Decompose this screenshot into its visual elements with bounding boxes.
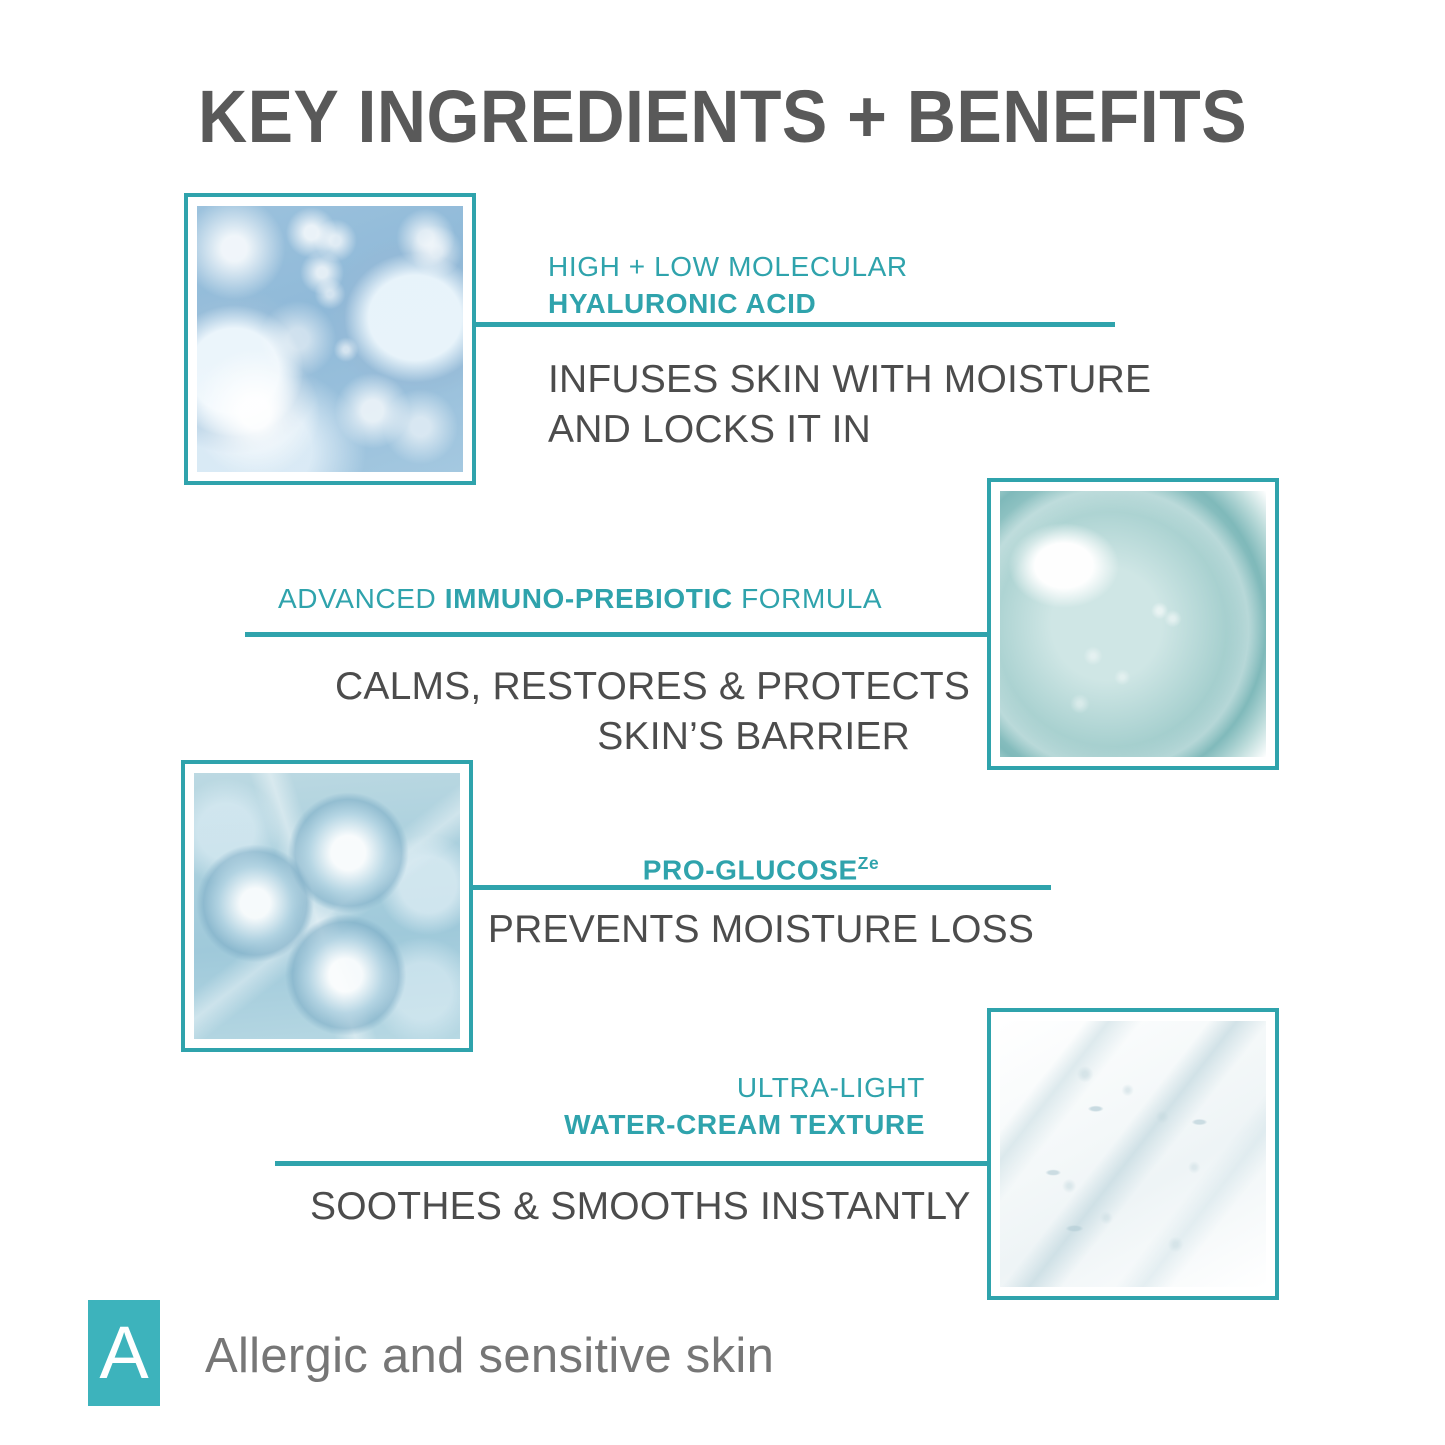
ingredient-label-emphasis: IMMUNO-PREBIOTIC	[445, 583, 733, 614]
benefit-line2: AND LOCKS IT IN	[548, 408, 871, 451]
water-cream-texture-photo	[1000, 1021, 1266, 1287]
footer-caption: Allergic and sensitive skin	[205, 1328, 774, 1384]
infographic-page: KEY INGREDIENTS + BENEFITS HIGH + LOW MO…	[0, 0, 1445, 1445]
ingredient-label-water-cream-texture: ULTRA-LIGHT WATER-CREAM TEXTURE	[380, 1069, 925, 1143]
ingredient-label-immuno-prebiotic: ADVANCED IMMUNO-PREBIOTIC FORMULA	[278, 580, 882, 617]
benefit-text-pro-glucose: PREVENTS MOISTURE LOSS	[471, 905, 1051, 955]
ingredient-label-line2: HYALURONIC ACID	[548, 288, 816, 319]
benefit-line1: CALMS, RESTORES & PROTECTS	[335, 665, 970, 708]
benefit-text-water-cream-texture: SOOTHES & SMOOTHS INSTANTLY	[310, 1182, 940, 1232]
benefit-line1: SOOTHES & SMOOTHS INSTANTLY	[310, 1185, 971, 1228]
benefit-line2: SKIN’S BARRIER	[597, 715, 910, 758]
benefit-line1: PREVENTS MOISTURE LOSS	[488, 908, 1034, 951]
ingredient-image-water-cream-texture	[987, 1008, 1279, 1300]
water-bubbles-photo	[197, 206, 463, 472]
ingredient-label-main: PRO-GLUCOSE	[643, 854, 858, 885]
ingredient-label-line2: WATER-CREAM TEXTURE	[564, 1109, 925, 1140]
ingredient-image-hyaluronic-acid	[184, 193, 476, 485]
connector-rule-immuno-prebiotic	[245, 632, 991, 637]
allergy-badge-icon: A	[88, 1300, 160, 1406]
benefit-line1: INFUSES SKIN WITH MOISTURE	[548, 358, 1151, 401]
ingredient-label-suffix: FORMULA	[733, 583, 882, 614]
ingredient-label-pro-glucose: PRO-GLUCOSEZe	[471, 845, 1051, 888]
ingredient-label-prefix: ADVANCED	[278, 583, 445, 614]
benefit-text-hyaluronic-acid: INFUSES SKIN WITH MOISTURE AND LOCKS IT …	[548, 355, 1151, 455]
page-title: KEY INGREDIENTS + BENEFITS	[58, 74, 1387, 159]
ingredient-label-superscript: Ze	[858, 853, 879, 873]
ingredient-label-line1: HIGH + LOW MOLECULAR	[548, 251, 908, 282]
benefit-text-immuno-prebiotic: CALMS, RESTORES & PROTECTS SKIN’S BARRIE…	[335, 662, 910, 762]
connector-rule-hyaluronic-acid	[474, 322, 1115, 327]
molecule-photo	[194, 773, 460, 1039]
gel-dome-photo	[1000, 491, 1266, 757]
ingredient-label-hyaluronic-acid: HIGH + LOW MOLECULAR HYALURONIC ACID	[548, 248, 908, 322]
connector-rule-water-cream-texture	[275, 1161, 991, 1166]
ingredient-image-pro-glucose	[181, 760, 473, 1052]
ingredient-label-line1: ULTRA-LIGHT	[737, 1072, 925, 1103]
ingredient-image-immuno-prebiotic	[987, 478, 1279, 770]
